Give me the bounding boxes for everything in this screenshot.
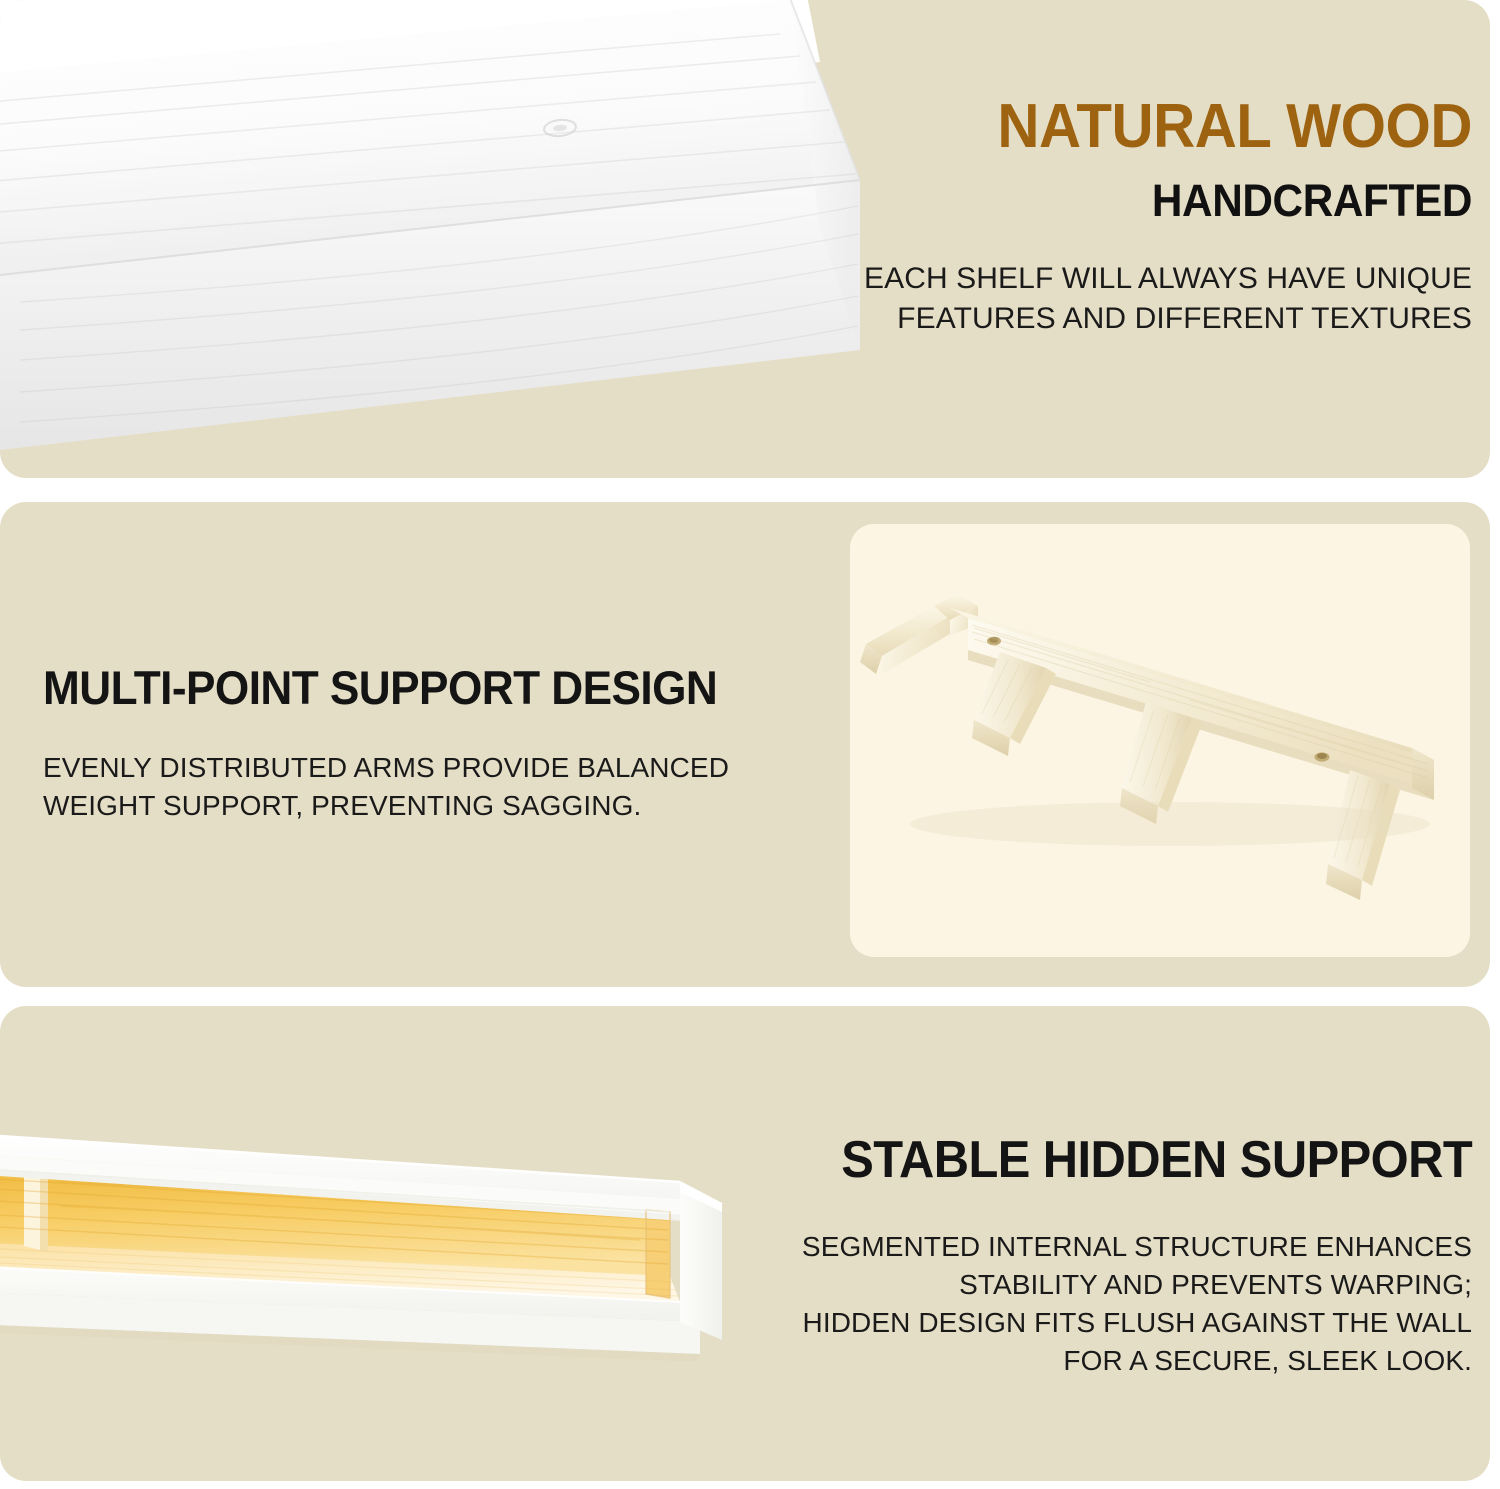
panel-stable-hidden-support: STABLE HIDDEN SUPPORT SEGMENTED INTERNAL… (0, 1006, 1490, 1481)
hollow-shelf-image (0, 1126, 800, 1416)
panel-3-body-line-2: STABILITY AND PREVENTS WARPING; (801, 1266, 1472, 1304)
bracket-image-card (850, 524, 1470, 957)
shelf-block-image (0, 0, 860, 478)
subheadline-handcrafted: HANDCRAFTED (900, 178, 1472, 223)
wooden-bracket-image (850, 524, 1470, 957)
headline-stable-hidden-support: STABLE HIDDEN SUPPORT (841, 1134, 1472, 1186)
panel-3-body: SEGMENTED INTERNAL STRUCTURE ENHANCES ST… (801, 1228, 1472, 1380)
headline-multi-point-support: MULTI-POINT SUPPORT DESIGN (43, 664, 717, 711)
hollow-shelf-graphic (0, 1126, 800, 1416)
panel-2-body-line-2: WEIGHT SUPPORT, PREVENTING SAGGING. (43, 787, 760, 825)
panel-2-body: EVENLY DISTRIBUTED ARMS PROVIDE BALANCED… (43, 749, 760, 825)
panel-1-text-block: NATURAL WOOD HANDCRAFTED EACH SHELF WILL… (864, 96, 1472, 339)
headline-natural-wood: NATURAL WOOD (900, 96, 1472, 158)
panel-1-body-line-1: EACH SHELF WILL ALWAYS HAVE UNIQUE (864, 259, 1472, 299)
panel-3-body-line-4: FOR A SECURE, SLEEK LOOK. (801, 1342, 1472, 1380)
panel-3-text-block: STABLE HIDDEN SUPPORT SEGMENTED INTERNAL… (801, 1134, 1472, 1380)
panel-3-body-line-1: SEGMENTED INTERNAL STRUCTURE ENHANCES (801, 1228, 1472, 1266)
panel-3-body-line-3: HIDDEN DESIGN FITS FLUSH AGAINST THE WAL… (801, 1304, 1472, 1342)
shelf-block-detail (0, 0, 860, 478)
panel-multi-point-support: MULTI-POINT SUPPORT DESIGN EVENLY DISTRI… (0, 502, 1490, 987)
panel-2-body-line-1: EVENLY DISTRIBUTED ARMS PROVIDE BALANCED (43, 749, 760, 787)
panel-1-body: EACH SHELF WILL ALWAYS HAVE UNIQUE FEATU… (864, 259, 1472, 339)
panel-1-body-line-2: FEATURES AND DIFFERENT TEXTURES (864, 299, 1472, 339)
panel-2-text-block: MULTI-POINT SUPPORT DESIGN EVENLY DISTRI… (43, 664, 760, 825)
panel-natural-wood: NATURAL WOOD HANDCRAFTED EACH SHELF WILL… (0, 0, 1490, 478)
